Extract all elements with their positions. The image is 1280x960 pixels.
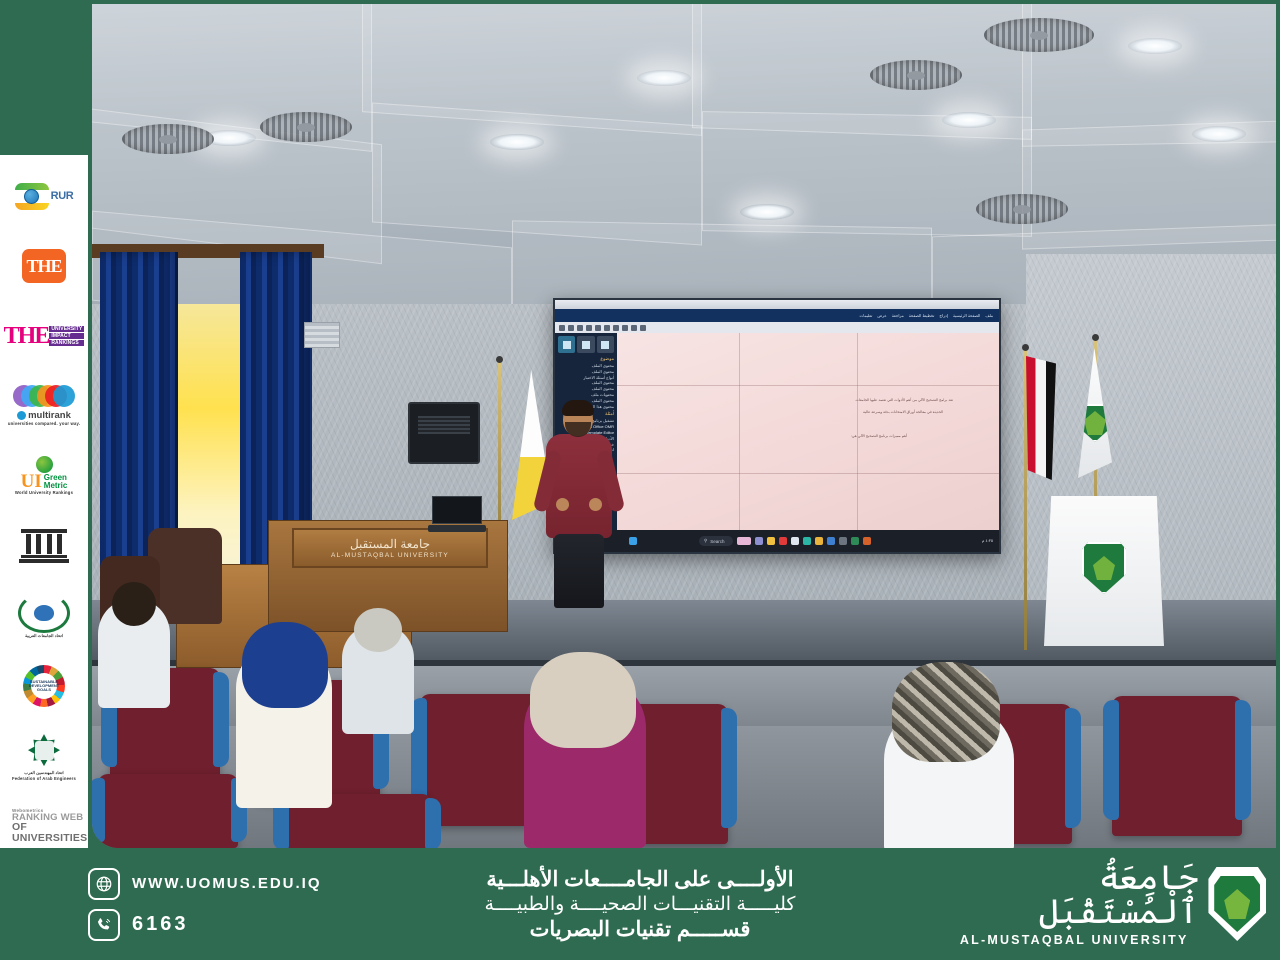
podium-sign: جامعة المستقبل AL-MUSTAQBAL UNIVERSITY bbox=[292, 528, 488, 568]
copy-icon[interactable] bbox=[604, 325, 610, 331]
federation-arab-engineers-caption-en: Federation of Arab Engineers bbox=[12, 777, 76, 782]
federation-arab-engineers-logo: اتحاد المهندسين العرب Federation of Arab… bbox=[4, 723, 84, 789]
multirank-logo-text: multirank bbox=[28, 410, 71, 421]
university-shield-logo bbox=[1082, 542, 1126, 594]
settings-icon[interactable] bbox=[839, 537, 847, 545]
document-line: الحديثة في معالجة أوراق الامتحانات بدقة … bbox=[863, 409, 943, 415]
ceiling-fan bbox=[122, 124, 214, 154]
text-icon[interactable] bbox=[640, 325, 646, 331]
edge-icon[interactable] bbox=[803, 537, 811, 545]
event-photo: تعليمات عرض مراجعة تخطيط الصفحة إدراج ال… bbox=[92, 4, 1276, 848]
phone-text[interactable]: 6163 bbox=[132, 913, 189, 936]
folder-icon[interactable] bbox=[815, 537, 823, 545]
arab-universities-union-logo: اتحاد الجامعات العربية bbox=[4, 583, 84, 649]
start-icon[interactable] bbox=[629, 537, 637, 545]
explorer-icon[interactable] bbox=[767, 537, 775, 545]
home-tab-icon[interactable] bbox=[558, 336, 575, 353]
headline-block: الأولــــى على الجامــــعات الأهلـــية ك… bbox=[330, 867, 950, 942]
seat bbox=[98, 774, 238, 848]
multirank-logo: multirank universities compared. your wa… bbox=[4, 373, 84, 439]
ceiling-fan bbox=[870, 60, 962, 90]
the-logo-text: THE bbox=[26, 256, 61, 277]
taskbar-clock[interactable]: ٤:٣٥ م bbox=[982, 539, 993, 544]
wall-vent bbox=[304, 322, 340, 348]
headline-line-2: كليـــــة التقنيـــات الصحيــــة والطبيـ… bbox=[485, 893, 796, 916]
website-row[interactable]: WWW.UOMUS.EDU.IQ bbox=[88, 868, 330, 900]
attendee-hijab bbox=[530, 652, 636, 748]
screen-ribbon-tabs[interactable]: تعليمات عرض مراجعة تخطيط الصفحة إدراج ال… bbox=[555, 309, 999, 322]
phone-ring-icon bbox=[88, 909, 120, 941]
globe-www-icon bbox=[88, 868, 120, 900]
brand-english: AL-MUSTAQBAL UNIVERSITY bbox=[960, 933, 1189, 947]
the-impact-rankings-logo: THE UNIVERSITY IMPACT RANKINGS bbox=[4, 303, 84, 369]
save-icon[interactable] bbox=[577, 325, 583, 331]
search-icon: ⚲ bbox=[704, 538, 707, 544]
ui-greenmetric-logo: UI Green Metric World University Ranking… bbox=[4, 443, 84, 509]
flagpole bbox=[1024, 350, 1027, 650]
screen-document-canvas[interactable]: تعد برامج التصحيح الآلي من أهم الأدوات ا… bbox=[617, 333, 999, 530]
projection-screen: تعليمات عرض مراجعة تخطيط الصفحة إدراج ال… bbox=[553, 298, 1001, 554]
excel-icon[interactable] bbox=[851, 537, 859, 545]
website-text[interactable]: WWW.UOMUS.EDU.IQ bbox=[132, 875, 322, 892]
teams-icon[interactable] bbox=[755, 537, 763, 545]
task-view-icon[interactable] bbox=[737, 537, 751, 545]
ceiling-light bbox=[740, 204, 794, 220]
store-icon[interactable] bbox=[827, 537, 835, 545]
ceiling-light bbox=[1192, 126, 1246, 142]
ribbon-tab[interactable]: عرض bbox=[877, 313, 886, 318]
screen-toolbar[interactable] bbox=[555, 322, 999, 333]
ui-greenmetric-line2: Metric bbox=[44, 481, 68, 490]
arab-universities-union-caption: اتحاد الجامعات العربية bbox=[25, 634, 63, 639]
windows-taskbar[interactable]: ⚲ Search ٤:٣٥ م bbox=[555, 530, 999, 552]
ceiling-fan bbox=[260, 112, 352, 142]
multirank-caption: universities compared. your way. bbox=[8, 422, 80, 427]
contact-block: WWW.UOMUS.EDU.IQ 6163 bbox=[0, 868, 330, 941]
brand-arabic: جَامِعَةُ ٱلْمُسْتَقْبَل bbox=[950, 862, 1198, 930]
delete-icon[interactable] bbox=[622, 325, 628, 331]
the-impact-word: THE bbox=[4, 324, 49, 348]
browser-icon[interactable] bbox=[779, 537, 787, 545]
ribbon-tab[interactable]: تخطيط الصفحة bbox=[909, 313, 935, 318]
flag-finial bbox=[1022, 344, 1029, 351]
seat bbox=[1112, 696, 1242, 836]
sdg-goals-text: SUSTAINABLE DEVELOPMENT GOALS bbox=[23, 680, 65, 692]
rur-logo-text: RUR bbox=[51, 190, 74, 202]
the-logo: THE bbox=[4, 233, 84, 299]
ceiling-fan bbox=[976, 194, 1068, 224]
webometrics-line3: OF UNIVERSITIES bbox=[12, 822, 84, 844]
document-line: تعد برامج التصحيح الآلي من أهم الأدوات ا… bbox=[856, 397, 953, 403]
rankings-rail: RUR THE THE UNIVERSITY IMPACT RANKINGS m… bbox=[0, 155, 88, 855]
poster-root: RUR THE THE UNIVERSITY IMPACT RANKINGS m… bbox=[0, 0, 1280, 960]
print-icon[interactable] bbox=[586, 325, 592, 331]
open-folder-icon[interactable] bbox=[568, 325, 574, 331]
attendee-hijab bbox=[892, 662, 1000, 762]
headline-line-3: قســـــم تقنيات البصريات bbox=[530, 917, 751, 942]
ribbon-tab[interactable]: مراجعة bbox=[892, 313, 904, 318]
edit-tab-icon[interactable] bbox=[577, 336, 594, 353]
paste-icon[interactable] bbox=[613, 325, 619, 331]
ribbon-tab[interactable]: الصفحة الرئيسية bbox=[953, 313, 980, 318]
phone-row[interactable]: 6163 bbox=[88, 909, 330, 941]
sdg-goals-logo: SUSTAINABLE DEVELOPMENT GOALS bbox=[4, 653, 84, 719]
word-icon[interactable] bbox=[791, 537, 799, 545]
ceiling-fan bbox=[984, 18, 1094, 52]
flag-finial bbox=[1092, 334, 1099, 341]
ribbon-tab[interactable]: ملف bbox=[985, 313, 993, 318]
powerpoint-icon[interactable] bbox=[863, 537, 871, 545]
wall-speaker bbox=[408, 402, 480, 464]
the-impact-line3: RANKINGS bbox=[49, 340, 84, 346]
sidebar-heading: موضوع bbox=[558, 356, 614, 362]
new-file-icon[interactable] bbox=[559, 325, 565, 331]
attendee-hijab bbox=[242, 622, 328, 708]
taskbar-search[interactable]: ⚲ Search bbox=[699, 536, 733, 546]
university-shield-logo bbox=[1208, 867, 1266, 941]
ceiling-light bbox=[637, 70, 691, 86]
zoom-icon[interactable] bbox=[631, 325, 637, 331]
footer-bar: WWW.UOMUS.EDU.IQ 6163 الأولــــى على الج… bbox=[0, 848, 1280, 960]
pillars-logo bbox=[4, 513, 84, 579]
screen-titlebar bbox=[555, 300, 999, 309]
ceiling-light bbox=[1128, 38, 1182, 54]
headline-line-1: الأولــــى على الجامــــعات الأهلـــية bbox=[486, 867, 793, 892]
iraqi-flag bbox=[1026, 356, 1056, 480]
document-line: أهم مميزات برنامج التصحيح الآلي هي: bbox=[851, 433, 907, 439]
podium-sign-arabic: جامعة المستقبل bbox=[350, 538, 430, 550]
ui-greenmetric-caption: World University Rankings bbox=[15, 491, 73, 496]
the-impact-line1: UNIVERSITY bbox=[49, 326, 84, 332]
attendee-head bbox=[354, 608, 402, 652]
ui-greenmetric-mark: UI bbox=[21, 473, 42, 490]
brand-block: جَامِعَةُ ٱلْمُسْتَقْبَل AL-MUSTAQBAL UN… bbox=[950, 862, 1280, 947]
rur-logo: RUR bbox=[4, 163, 84, 229]
ribbon-tab[interactable]: إدراج bbox=[939, 313, 948, 318]
the-impact-line2: IMPACT bbox=[49, 333, 84, 339]
ribbon-tab[interactable]: تعليمات bbox=[859, 313, 872, 318]
ceiling-light bbox=[942, 112, 996, 128]
podium-sign-english: AL-MUSTAQBAL UNIVERSITY bbox=[331, 552, 449, 559]
search-placeholder: Search bbox=[710, 539, 724, 544]
ceiling-light bbox=[490, 134, 544, 150]
presenter bbox=[544, 402, 614, 608]
flag-finial bbox=[496, 356, 503, 363]
chart-tab-icon[interactable] bbox=[597, 336, 614, 353]
attendee-head bbox=[112, 582, 156, 626]
laptop bbox=[428, 496, 486, 532]
white-podium bbox=[1044, 496, 1164, 646]
cut-icon[interactable] bbox=[595, 325, 601, 331]
